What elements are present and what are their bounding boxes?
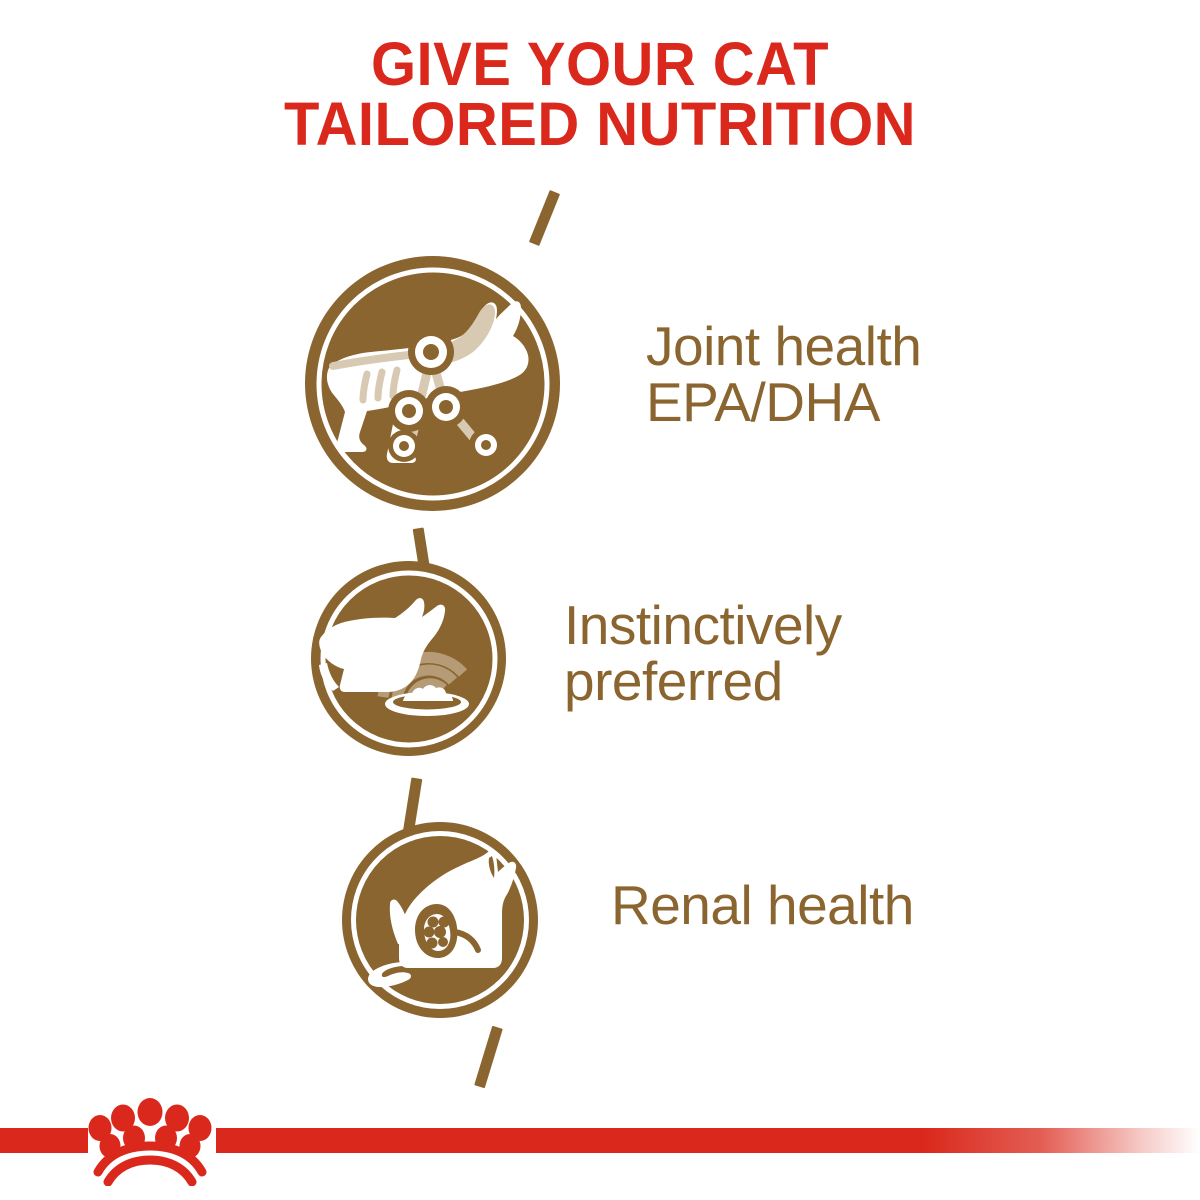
benefit-row-renal-health: Renal health <box>0 0 1200 1200</box>
benefit-label-line-1: Renal health <box>611 877 914 933</box>
footer-bar-right-segment <box>216 1128 1200 1153</box>
benefit-label-renal-health: Renal health <box>611 877 914 933</box>
cat-kidney-icon <box>342 822 538 1018</box>
royal-canin-crown-logo <box>82 1098 218 1186</box>
infographic-canvas: GIVE YOUR CAT TAILORED NUTRITION <box>0 0 1200 1200</box>
footer-bar-left-segment <box>0 1128 88 1153</box>
